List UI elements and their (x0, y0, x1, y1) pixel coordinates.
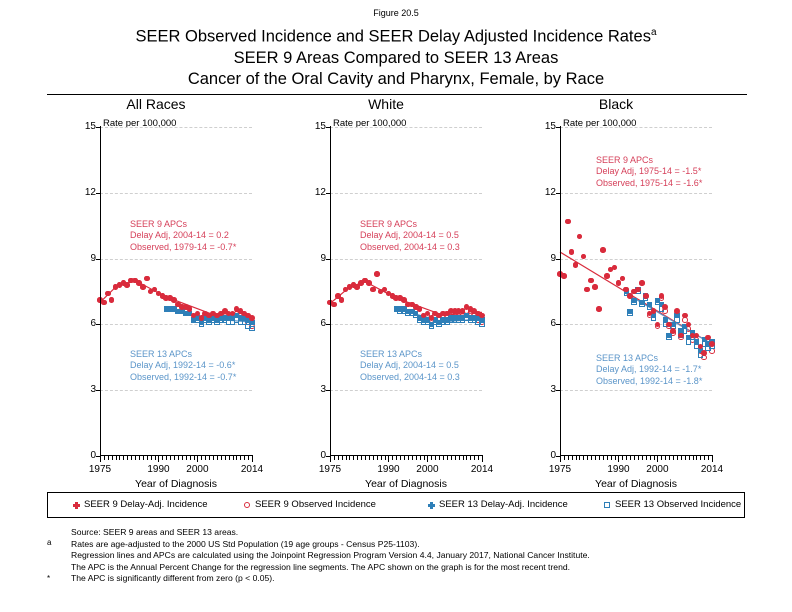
plot-area: 036912151975199020002014Year of Diagnosi… (330, 127, 482, 456)
x-tick-label: 2000 (186, 464, 208, 475)
y-tick-label: 0 (320, 451, 326, 461)
x-axis-title: Year of Diagnosis (595, 478, 677, 490)
chart-title: SEER Observed Incidence and SEER Delay A… (0, 22, 792, 90)
x-tick-label: 2014 (241, 464, 263, 475)
x-tick-label: 1990 (147, 464, 169, 475)
x-axis (560, 455, 713, 456)
y-axis (330, 126, 331, 457)
annotation-line: Delay Adj, 1975-14 = -1.5* (596, 166, 702, 177)
annotation-heading: SEER 9 APCs (130, 219, 236, 230)
annotation-heading: SEER 9 APCs (360, 219, 460, 230)
seer13-apc-annotation: SEER 13 APCsDelay Adj, 1992-14 = -1.7*Ob… (596, 353, 702, 387)
y-axis (100, 126, 101, 457)
annotation-line: Observed, 1979-14 = -0.7* (130, 242, 236, 253)
legend-item[interactable]: SEER 9 Delay-Adj. Incidence (73, 499, 208, 510)
square-open-blue-icon (604, 502, 610, 508)
y-tick-label: 6 (90, 319, 96, 329)
legend-item-label: SEER 9 Delay-Adj. Incidence (84, 499, 208, 510)
y-tick-label: 9 (550, 254, 556, 264)
y-tick-label: 0 (550, 451, 556, 461)
panel-title: Black (520, 96, 712, 112)
footnote-text: The APC is significantly different from … (71, 573, 767, 585)
annotation-line: Delay Adj, 1992-14 = -1.7* (596, 364, 702, 375)
trendline-seer-13 (626, 294, 712, 344)
y-tick-label: 15 (315, 122, 326, 132)
annotation-line: Observed, 2004-14 = 0.3 (360, 372, 460, 383)
panel-white: WhiteRate per 100,0000369121519751990200… (290, 96, 520, 476)
x-tick-label: 2014 (701, 464, 723, 475)
footnote-text: Rates are age-adjusted to the 2000 US St… (71, 539, 767, 551)
annotation-heading: SEER 13 APCs (360, 349, 460, 360)
x-tick-label: 1990 (377, 464, 399, 475)
annotation-heading: SEER 9 APCs (596, 155, 702, 166)
annotation-line: Delay Adj, 2004-14 = 0.5 (360, 230, 460, 241)
trendline-seer-9 (330, 282, 482, 316)
seer9-apc-annotation: SEER 9 APCsDelay Adj, 1975-14 = -1.5*Obs… (596, 155, 702, 189)
annotation-line: Observed, 1975-14 = -1.6* (596, 178, 702, 189)
footnote-text: Source: SEER 9 areas and SEER 13 areas. (71, 527, 767, 539)
x-tick-label: 1975 (319, 464, 341, 475)
seer9-apc-annotation: SEER 9 APCsDelay Adj, 2004-14 = 0.5Obser… (360, 219, 460, 253)
panel-all-races: All RacesRate per 100,000036912151975199… (60, 96, 290, 476)
trendline-layer (100, 127, 254, 458)
x-tick-label: 1990 (607, 464, 629, 475)
annotation-heading: SEER 13 APCs (130, 349, 236, 360)
header-divider (47, 94, 747, 95)
y-tick-label: 3 (90, 385, 96, 395)
y-tick-label: 6 (550, 319, 556, 329)
plot-area: 036912151975199020002014Year of Diagnosi… (560, 127, 712, 456)
y-tick-label: 12 (545, 188, 556, 198)
x-tick-label: 2000 (416, 464, 438, 475)
annotation-line: Observed, 1992-14 = -0.7* (130, 372, 236, 383)
panel-title: All Races (60, 96, 252, 112)
figure-number: Figure 20.5 (0, 8, 792, 18)
y-tick-label: 6 (320, 319, 326, 329)
plot-area: 036912151975199020002014Year of Diagnosi… (100, 127, 252, 456)
seer13-apc-annotation: SEER 13 APCsDelay Adj, 1992-14 = -0.6*Ob… (130, 349, 236, 383)
x-tick-label: 1975 (89, 464, 111, 475)
panel-black: BlackRate per 100,0000369121519751990200… (520, 96, 752, 476)
footnote-row: Regression lines and APCs are calculated… (47, 550, 767, 562)
footnote-text: The APC is the Annual Percent Change for… (71, 562, 767, 574)
title-footnote-marker: a (651, 27, 657, 38)
legend-item[interactable]: SEER 13 Delay-Adj. Incidence (428, 499, 568, 510)
trendline-seer-13 (396, 309, 482, 322)
title-line-1: SEER Observed Incidence and SEER Delay A… (0, 22, 792, 48)
y-tick-label: 15 (545, 122, 556, 132)
annotation-line: Delay Adj, 1992-14 = -0.6* (130, 360, 236, 371)
legend-item-label: SEER 13 Delay-Adj. Incidence (439, 499, 568, 510)
legend-item[interactable]: SEER 13 Observed Incidence (604, 499, 741, 510)
footnotes: Source: SEER 9 areas and SEER 13 areas.a… (47, 527, 767, 585)
footnote-marker: * (47, 573, 61, 585)
annotation-line: Observed, 1992-14 = -1.8* (596, 376, 702, 387)
y-tick-label: 0 (90, 451, 96, 461)
legend: SEER 9 Delay-Adj. IncidenceSEER 9 Observ… (47, 492, 745, 518)
legend-item[interactable]: SEER 9 Observed Incidence (244, 499, 376, 510)
footnote-row: aRates are age-adjusted to the 2000 US S… (47, 539, 767, 551)
x-axis-title: Year of Diagnosis (135, 478, 217, 490)
y-tick-label: 9 (320, 254, 326, 264)
y-tick-label: 12 (315, 188, 326, 198)
annotation-line: Observed, 2004-14 = 0.3 (360, 242, 460, 253)
title-line-2: SEER 9 Areas Compared to SEER 13 Areas (0, 48, 792, 69)
footnote-row: The APC is the Annual Percent Change for… (47, 562, 767, 574)
legend-item-label: SEER 13 Observed Incidence (615, 499, 741, 510)
circle-open-red-icon (244, 502, 250, 508)
x-axis (330, 455, 483, 456)
footnote-marker: a (47, 537, 61, 549)
legend-item-label: SEER 9 Observed Incidence (255, 499, 376, 510)
footnote-text: Regression lines and APCs are calculated… (71, 550, 767, 562)
x-axis-title: Year of Diagnosis (365, 478, 447, 490)
footnote-row: Source: SEER 9 areas and SEER 13 areas. (47, 527, 767, 539)
seer9-apc-annotation: SEER 9 APCsDelay Adj, 2004-14 = 0.2Obser… (130, 219, 236, 253)
annotation-line: Delay Adj, 2004-14 = 0.2 (130, 230, 236, 241)
annotation-heading: SEER 13 APCs (596, 353, 702, 364)
y-tick-label: 9 (90, 254, 96, 264)
seer13-apc-annotation: SEER 13 APCsDelay Adj, 2004-14 = 0.5Obse… (360, 349, 460, 383)
title-line-1-text: SEER Observed Incidence and SEER Delay A… (135, 28, 650, 46)
y-tick-label: 12 (85, 188, 96, 198)
title-line-3: Cancer of the Oral Cavity and Pharynx, F… (0, 69, 792, 90)
y-tick-label: 3 (320, 385, 326, 395)
y-tick-label: 15 (85, 122, 96, 132)
annotation-line: Delay Adj, 2004-14 = 0.5 (360, 360, 460, 371)
x-tick-label: 2000 (646, 464, 668, 475)
trendline-layer (330, 127, 484, 458)
x-tick-label: 1975 (549, 464, 571, 475)
y-axis (560, 126, 561, 457)
footnote-row: *The APC is significantly different from… (47, 573, 767, 585)
y-tick-label: 3 (550, 385, 556, 395)
x-tick-label: 2014 (471, 464, 493, 475)
panel-title: White (290, 96, 482, 112)
x-axis (100, 455, 253, 456)
